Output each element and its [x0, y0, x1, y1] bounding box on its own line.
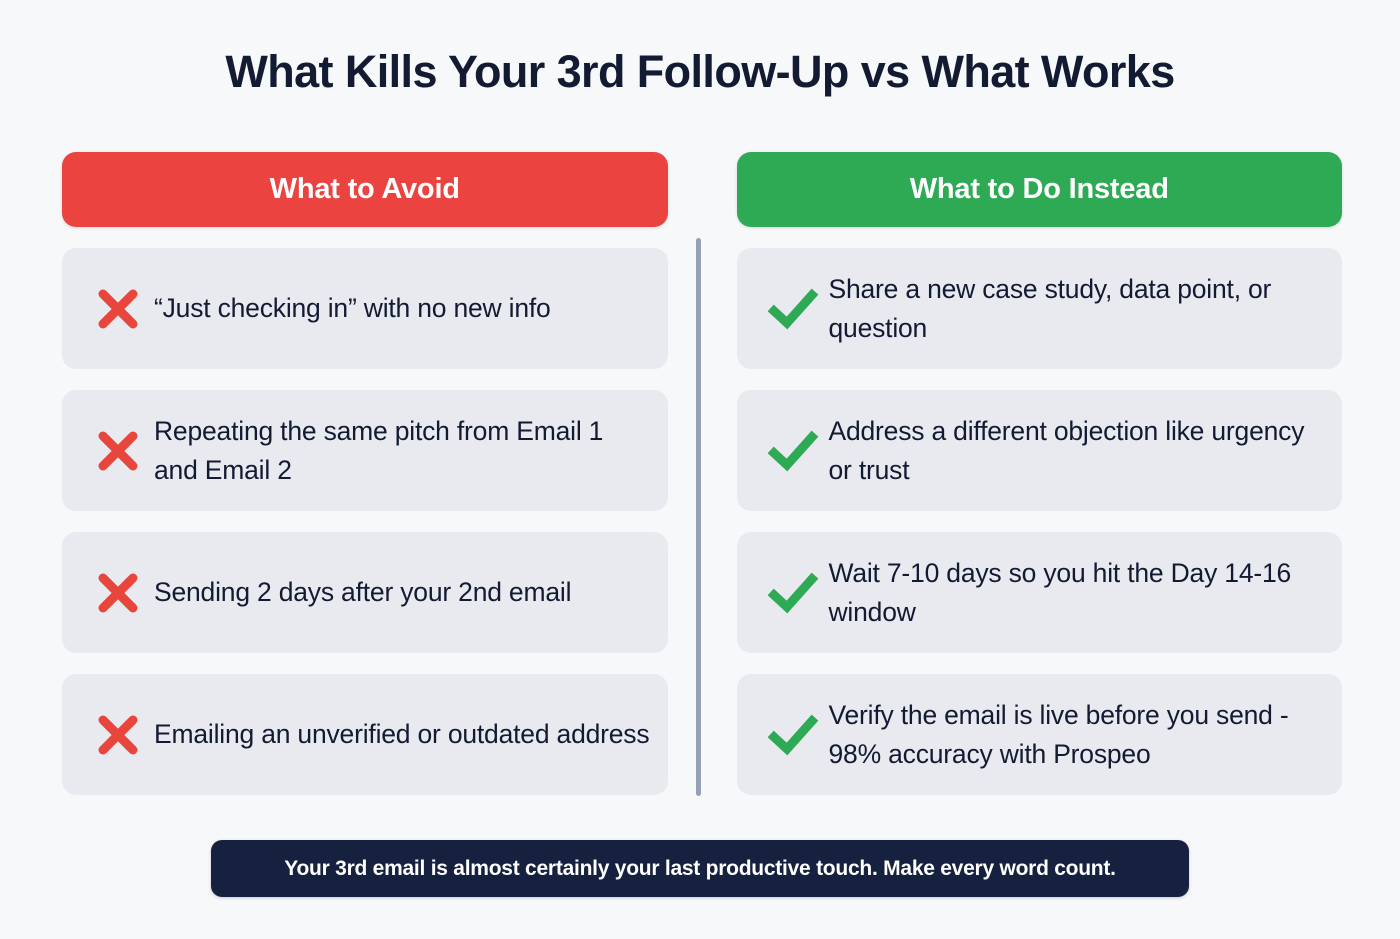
column-do-instead: What to Do Instead Share a new case stud…	[737, 152, 1343, 795]
list-item: Share a new case study, data point, or q…	[737, 248, 1343, 369]
infographic-page: What Kills Your 3rd Follow-Up vs What Wo…	[0, 0, 1400, 939]
cross-icon	[82, 286, 154, 332]
cross-icon	[82, 712, 154, 758]
list-item-label: Sending 2 days after your 2nd email	[154, 573, 571, 611]
list-item-label: Emailing an unverified or outdated addre…	[154, 715, 649, 753]
footer-banner: Your 3rd email is almost certainly your …	[211, 840, 1189, 897]
cross-icon	[82, 570, 154, 616]
list-item-label: Share a new case study, data point, or q…	[829, 270, 1327, 346]
list-item: Verify the email is live before you send…	[737, 674, 1343, 795]
list-item: Wait 7-10 days so you hit the Day 14-16 …	[737, 532, 1343, 653]
check-icon	[757, 428, 829, 474]
list-item-label: Wait 7-10 days so you hit the Day 14-16 …	[829, 554, 1327, 630]
list-item: Repeating the same pitch from Email 1 an…	[62, 390, 668, 511]
list-item: Emailing an unverified or outdated addre…	[62, 674, 668, 795]
column-header-avoid: What to Avoid	[62, 152, 668, 227]
card-list-avoid: “Just checking in” with no new info Repe…	[62, 248, 668, 795]
list-item-label: Address a different objection like urgen…	[829, 412, 1327, 488]
list-item: Address a different objection like urgen…	[737, 390, 1343, 511]
check-icon	[757, 570, 829, 616]
column-avoid: What to Avoid “Just checking in” with no…	[62, 152, 668, 795]
comparison-columns: What to Avoid “Just checking in” with no…	[62, 152, 1342, 795]
card-list-do-instead: Share a new case study, data point, or q…	[737, 248, 1343, 795]
column-divider	[696, 238, 701, 796]
list-item: Sending 2 days after your 2nd email	[62, 532, 668, 653]
check-icon	[757, 712, 829, 758]
column-header-do-instead: What to Do Instead	[737, 152, 1343, 227]
list-item-label: Verify the email is live before you send…	[829, 696, 1327, 772]
footer-text: Your 3rd email is almost certainly your …	[284, 857, 1115, 881]
cross-icon	[82, 428, 154, 474]
list-item-label: Repeating the same pitch from Email 1 an…	[154, 412, 652, 488]
check-icon	[757, 286, 829, 332]
list-item: “Just checking in” with no new info	[62, 248, 668, 369]
list-item-label: “Just checking in” with no new info	[154, 289, 551, 327]
page-title: What Kills Your 3rd Follow-Up vs What Wo…	[0, 46, 1400, 98]
